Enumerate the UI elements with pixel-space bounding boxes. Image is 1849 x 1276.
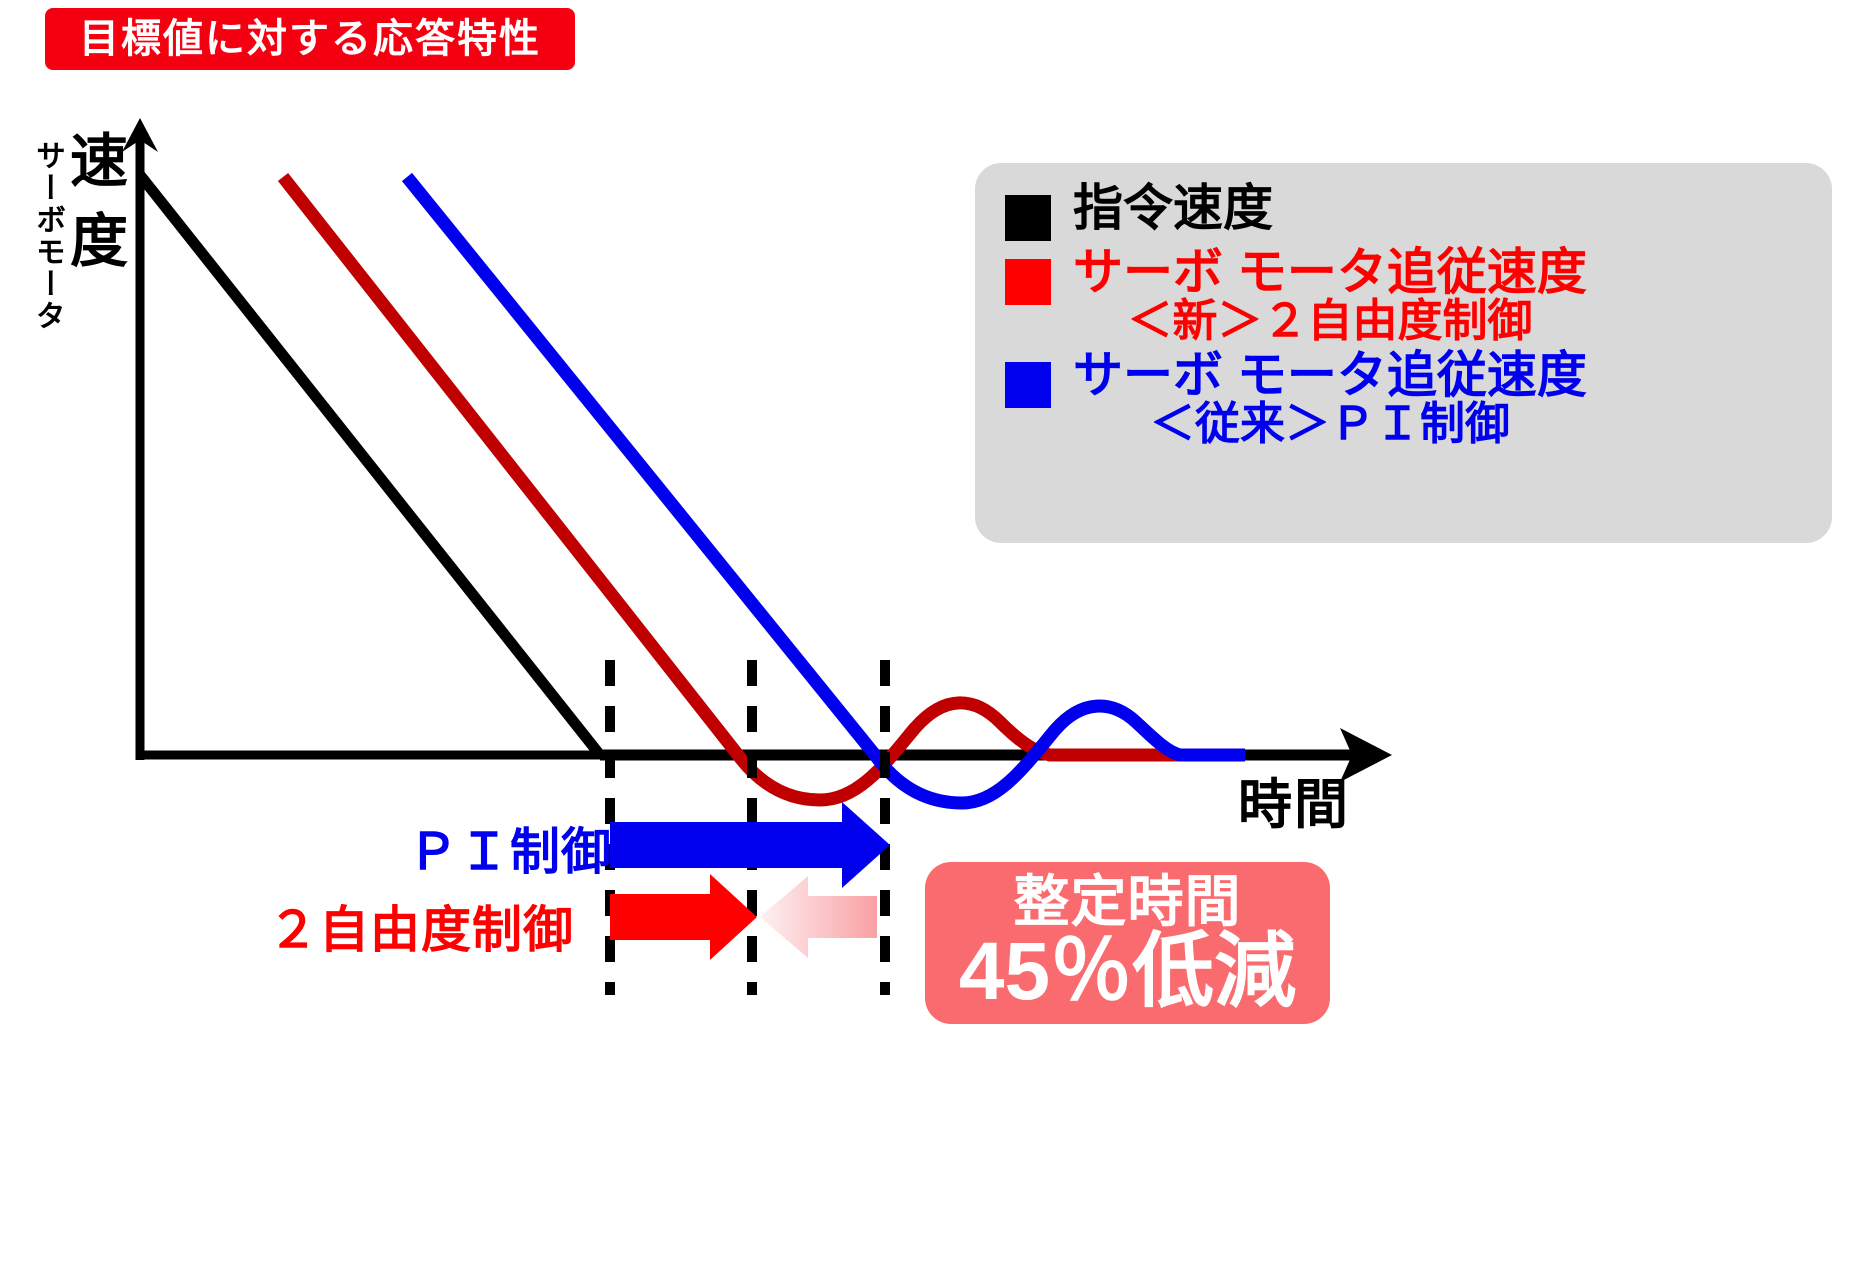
legend-item-2dof: サーボ モータ追従速度 ＜新＞２自由度制御 xyxy=(975,247,1832,344)
legend-item-sublabel: ＜従来＞ＰＩ制御 xyxy=(1073,401,1587,447)
badge-title: 整定時間 xyxy=(1014,873,1242,932)
legend-item-pi: サーボ モータ追従速度 ＜従来＞ＰＩ制御 xyxy=(975,350,1832,447)
legend-item-command-speed: 指令速度 xyxy=(975,183,1832,241)
black-square-icon xyxy=(1005,195,1051,241)
legend-item-label: 指令速度 xyxy=(1073,183,1273,234)
pi-control-label: ＰＩ制御 xyxy=(408,812,612,884)
settling-gain-arrow xyxy=(760,876,877,958)
y-axis-label: 速度 xyxy=(52,130,122,290)
red-square-icon xyxy=(1005,259,1051,305)
settling-time-badge: 整定時間 45％低減 xyxy=(925,862,1330,1024)
legend-item-label: サーボ モータ追従速度 xyxy=(1073,350,1587,401)
legend-item-label: サーボ モータ追従速度 xyxy=(1073,247,1587,298)
twodof-settling-arrow xyxy=(610,874,757,960)
blue-square-icon xyxy=(1005,362,1051,408)
twodof-control-label: ２自由度制御 xyxy=(268,890,574,962)
legend-item-sublabel: ＜新＞２自由度制御 xyxy=(1073,298,1587,344)
chart-legend: 指令速度 サーボ モータ追従速度 ＜新＞２自由度制御 サーボ モータ追従速度 ＜… xyxy=(975,163,1832,543)
x-axis-label: 時間 xyxy=(1238,760,1350,839)
badge-value: 45％低減 xyxy=(959,931,1296,1013)
